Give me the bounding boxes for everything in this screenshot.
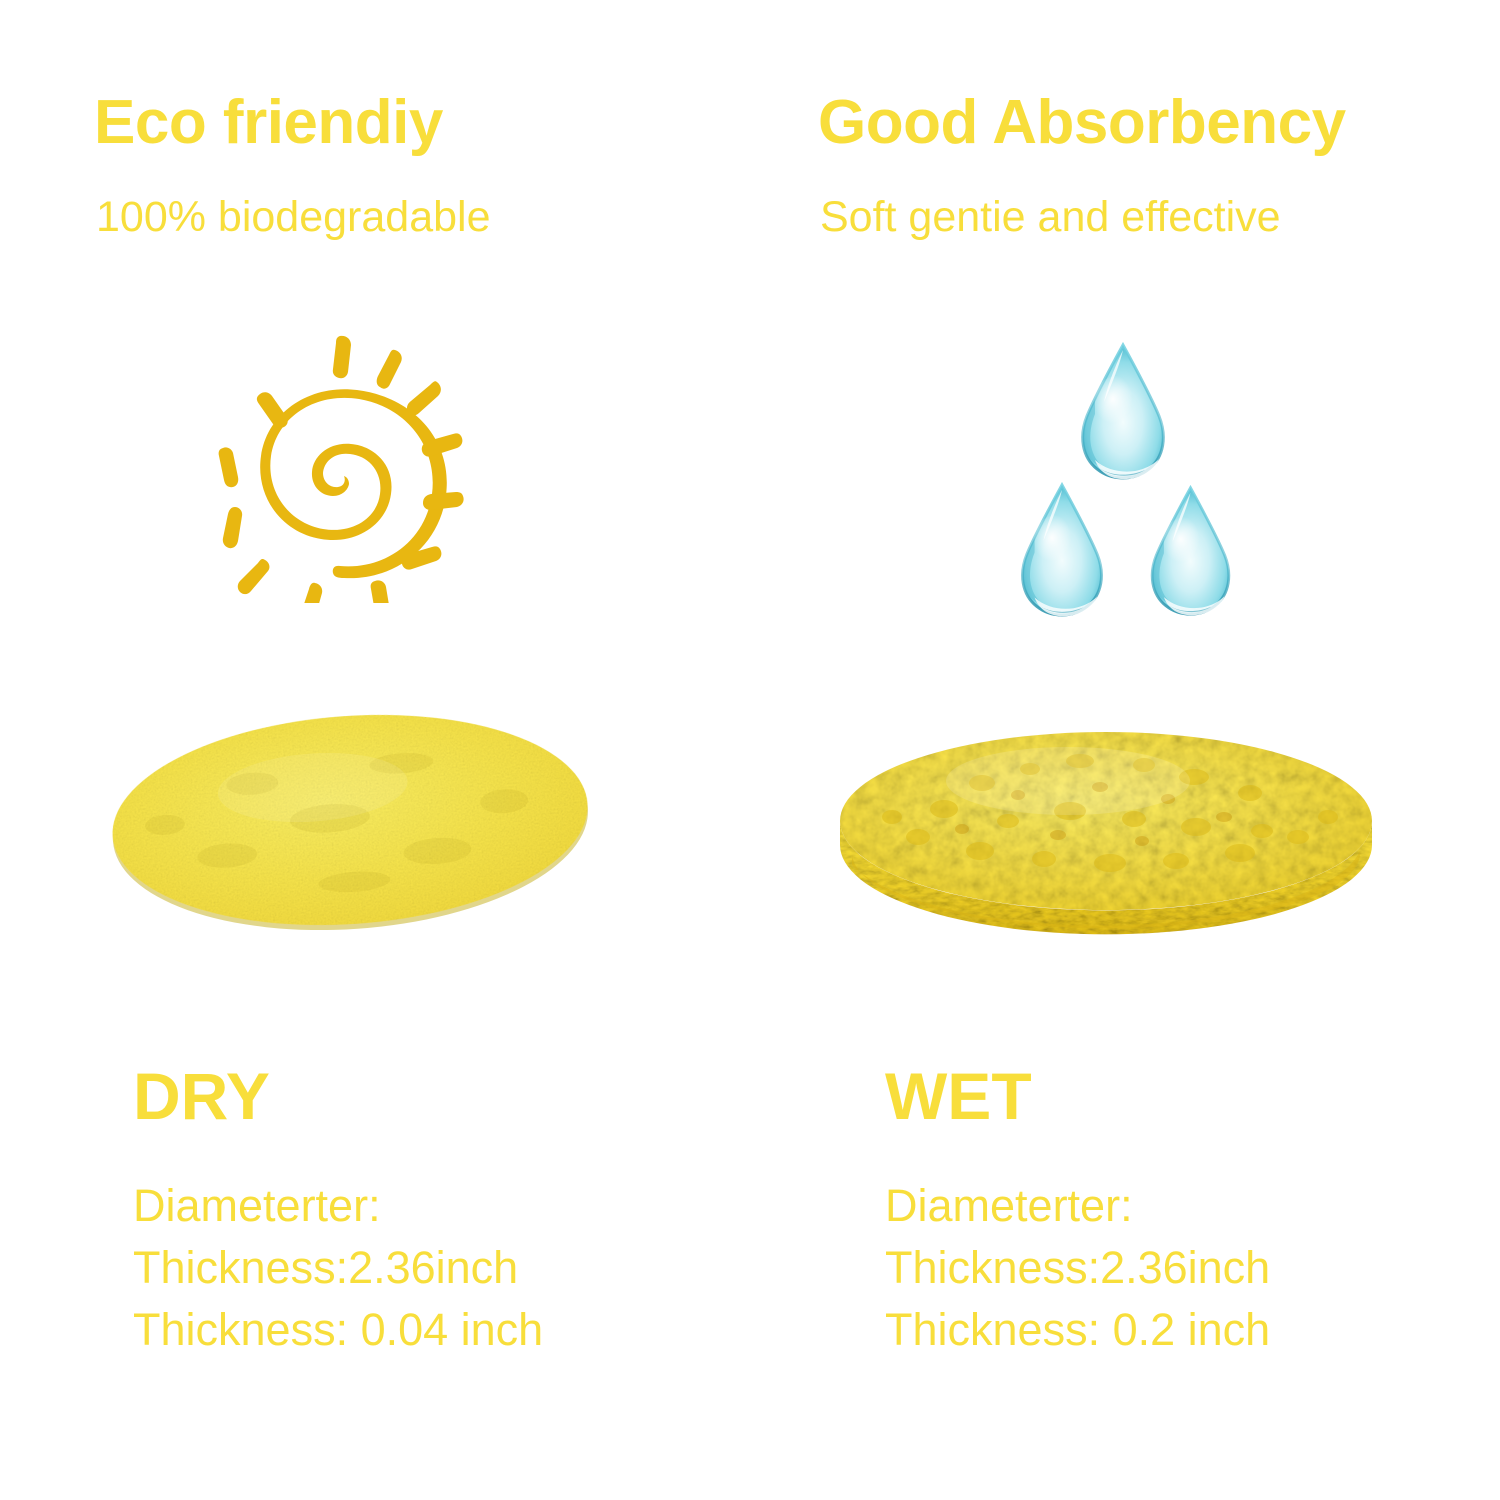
- wet-state-title: WET: [885, 1063, 1032, 1129]
- dry-spec-line: Thickness: 0.04 inch: [133, 1299, 543, 1361]
- dry-spec-list: Diameterter: Thickness:2.36inch Thicknes…: [133, 1175, 543, 1361]
- wet-spec-list: Diameterter: Thickness:2.36inch Thicknes…: [885, 1175, 1270, 1361]
- water-droplets-icon: [985, 330, 1270, 630]
- sun-icon: [205, 328, 475, 603]
- right-column-heading: Good Absorbency: [818, 92, 1346, 154]
- dry-spec-line: Diameterter:: [133, 1175, 543, 1237]
- dry-sponge-image: [105, 707, 595, 932]
- wet-sponge-image: [832, 725, 1380, 953]
- wet-spec-line: Thickness: 0.2 inch: [885, 1299, 1270, 1361]
- wet-spec-line: Thickness:2.36inch: [885, 1237, 1270, 1299]
- product-infographic: Eco friendiy 100% biodegradable: [0, 0, 1500, 1500]
- dry-state-title: DRY: [133, 1063, 270, 1129]
- right-column-subheading: Soft gentie and effective: [820, 196, 1281, 239]
- dry-spec-line: Thickness:2.36inch: [133, 1237, 543, 1299]
- left-column-subheading: 100% biodegradable: [96, 196, 491, 239]
- left-column-heading: Eco friendiy: [94, 92, 443, 154]
- wet-spec-line: Diameterter:: [885, 1175, 1270, 1237]
